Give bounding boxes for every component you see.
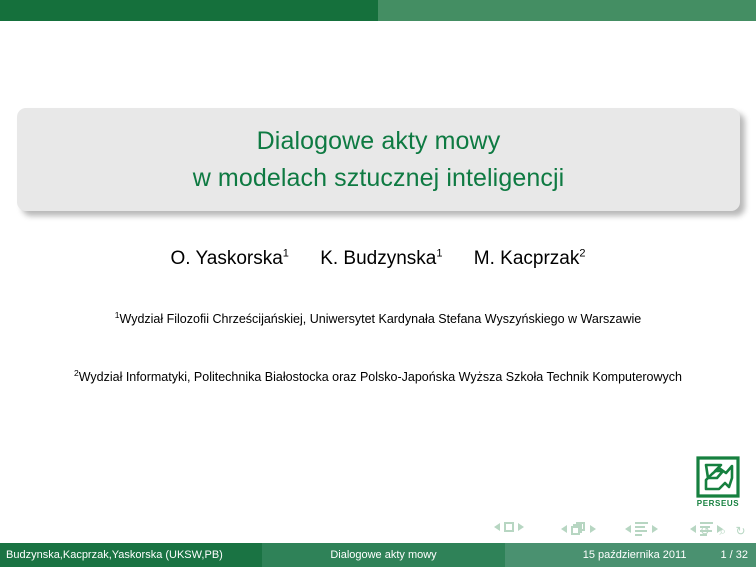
prev-slide-icon[interactable] bbox=[494, 523, 500, 531]
nav-group-document[interactable]: ↺ ⌕ ↻ bbox=[700, 524, 749, 539]
author-2: K. Budzynska1 bbox=[320, 248, 442, 270]
perseus-logo: PERSEUS bbox=[692, 456, 744, 512]
perseus-logo-caption: PERSEUS bbox=[697, 499, 739, 508]
author-3-name: M. Kacprzak bbox=[474, 248, 580, 269]
search-icon[interactable]: ⌕ bbox=[719, 524, 729, 538]
footer-bar: Budzynska,Kacprzak,Yaskorska (UKSW,PB) D… bbox=[0, 543, 756, 567]
next-slide-icon[interactable] bbox=[518, 523, 524, 531]
affiliation-1-text: Wydział Filozofii Chrześcijańskiej, Uniw… bbox=[120, 312, 642, 326]
perseus-logo-icon bbox=[695, 456, 741, 498]
forward-icon[interactable]: ↻ bbox=[735, 524, 748, 538]
author-2-affiliation-marker: 1 bbox=[436, 248, 442, 260]
nav-group-slide[interactable] bbox=[494, 522, 524, 532]
subsection-lines-icon[interactable] bbox=[635, 522, 648, 536]
affiliation-2-text: Wydział Informatyki, Politechnika Białos… bbox=[79, 370, 682, 384]
author-2-name: K. Budzynska bbox=[320, 248, 436, 269]
page-title-line-2: w modelach sztucznej inteligencji bbox=[193, 160, 565, 197]
nav-group-frame[interactable] bbox=[561, 522, 596, 535]
back-icon[interactable]: ↺ bbox=[700, 524, 713, 538]
beamer-navigation-bar[interactable]: ↺ ⌕ ↻ bbox=[0, 522, 756, 542]
footer-page-number: 1 / 32 bbox=[720, 549, 748, 561]
author-3-affiliation-marker: 2 bbox=[579, 248, 585, 260]
frame-stack-icon[interactable] bbox=[571, 522, 586, 535]
prev-frame-icon[interactable] bbox=[561, 525, 567, 533]
footer-title: Dialogowe akty mowy bbox=[262, 543, 505, 567]
header-bar-right-block bbox=[378, 0, 756, 21]
footer-meta: 15 października 2011 1 / 32 bbox=[505, 543, 756, 567]
author-1: O. Yaskorska1 bbox=[171, 248, 289, 270]
header-bar-left-block bbox=[0, 0, 378, 21]
next-frame-icon[interactable] bbox=[590, 525, 596, 533]
next-subsection-icon[interactable] bbox=[652, 525, 658, 533]
prev-section-icon[interactable] bbox=[690, 525, 696, 533]
author-3: M. Kacprzak2 bbox=[474, 248, 586, 270]
title-box: Dialogowe akty mowy w modelach sztucznej… bbox=[17, 108, 740, 211]
prev-subsection-icon[interactable] bbox=[625, 525, 631, 533]
nav-group-subsection[interactable] bbox=[625, 522, 658, 536]
author-1-name: O. Yaskorska bbox=[171, 248, 283, 269]
footer-date: 15 października 2011 bbox=[583, 549, 687, 561]
author-list: O. Yaskorska1 K. Budzynska1 M. Kacprzak2 bbox=[0, 248, 756, 270]
affiliation-1: 1Wydział Filozofii Chrześcijańskiej, Uni… bbox=[58, 310, 698, 329]
author-1-affiliation-marker: 1 bbox=[283, 248, 289, 260]
affiliation-2: 2Wydział Informatyki, Politechnika Biało… bbox=[58, 368, 698, 387]
footer-authors: Budzynska,Kacprzak,Yaskorska (UKSW,PB) bbox=[0, 543, 262, 567]
page-title-line-1: Dialogowe akty mowy bbox=[257, 123, 501, 160]
slide-square-icon[interactable] bbox=[504, 522, 514, 532]
header-bar bbox=[0, 0, 756, 21]
